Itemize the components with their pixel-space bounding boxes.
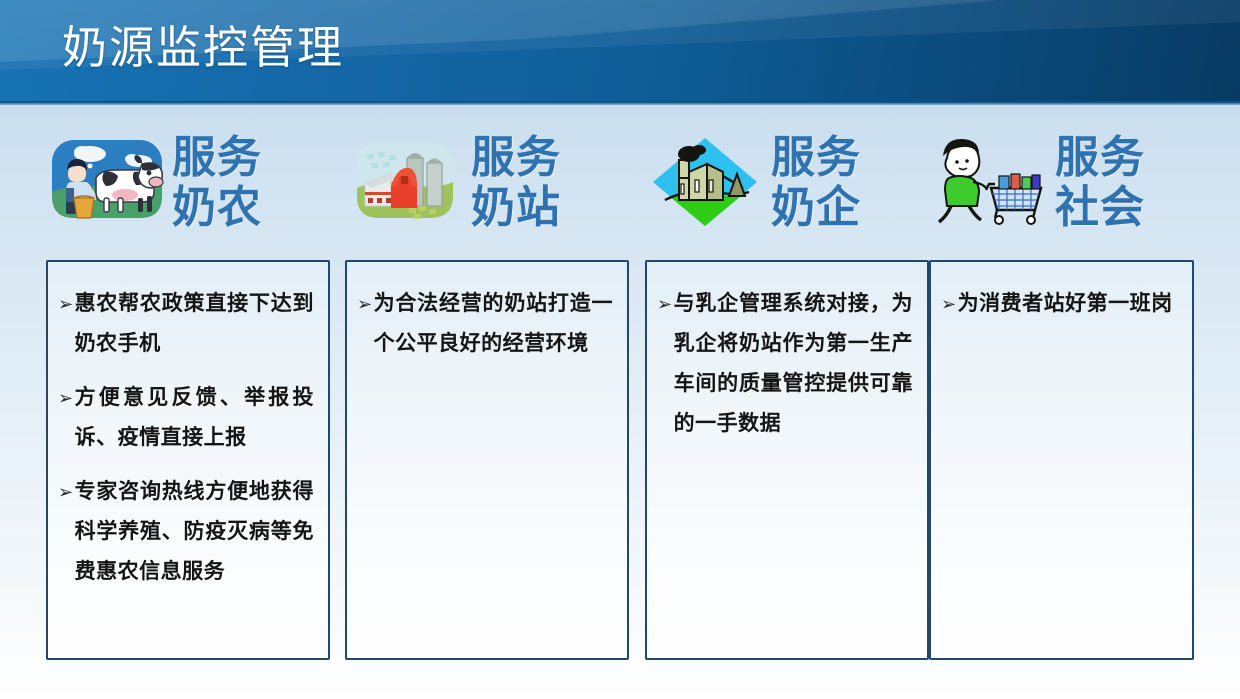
bullet-marker-icon: ➢ [941,284,957,324]
column-title-line1: 服务 [172,133,262,182]
column-content-box: ➢ 与乳企管理系统对接，为乳企将奶站作为第一生产车间的质量管控提供可靠的一手数据 [645,260,929,660]
bullet-item: ➢ 为合法经营的奶站打造一个公平良好的经营环境 [357,284,613,364]
bullet-text: 与乳企管理系统对接，为乳企将奶站作为第一生产车间的质量管控提供可靠的一手数据 [674,284,913,444]
column-title-line1: 服务 [471,133,561,182]
bullet-marker-icon: ➢ [58,378,74,418]
bullet-item: ➢ 与乳企管理系统对接，为乳企将奶站作为第一生产车间的质量管控提供可靠的一手数据 [657,284,913,444]
column-title-line2: 奶站 [471,183,633,233]
bullet-item: ➢ 为消费者站好第一班岗 [941,284,1178,324]
column-title: 服务 奶企 [771,133,933,233]
bullet-item: ➢ 惠农帮农政策直接下达到奶农手机 [58,284,314,364]
column-title-line1: 服务 [1055,133,1145,182]
column-content-box: ➢ 为合法经营的奶站打造一个公平良好的经营环境 [345,260,629,660]
column-title-line2: 奶企 [771,183,933,233]
column-title-line2: 社会 [1055,183,1217,233]
bullet-item: ➢ 方便意见反馈、举报投诉、疫情直接上报 [58,378,314,458]
bullet-text: 为消费者站好第一班岗 [958,284,1178,324]
shopper-cart-icon [929,130,1051,235]
column-content-box: ➢ 惠农帮农政策直接下达到奶农手机 ➢ 方便意见反馈、举报投诉、疫情直接上报 ➢… [46,260,330,660]
bullet-text: 为合法经营的奶站打造一个公平良好的经营环境 [374,284,613,364]
column-header: 服务 奶站 [345,125,633,240]
factory-diamond-icon [645,130,767,235]
bullet-marker-icon: ➢ [58,472,74,512]
column-title: 服务 奶站 [471,133,633,233]
bullet-text: 方便意见反馈、举报投诉、疫情直接上报 [75,378,314,458]
column-header: 服务 奶农 [46,125,334,240]
bullet-marker-icon: ➢ [357,284,373,324]
farmer-milking-cow-icon [46,130,168,235]
column-title: 服务 社会 [1055,133,1217,233]
red-barn-silo-icon [345,130,467,235]
bullet-marker-icon: ➢ [657,284,673,324]
bullet-marker-icon: ➢ [58,284,74,324]
page-title: 奶源监控管理 [62,17,344,79]
columns-container: 服务 奶农 ➢ 惠农帮农政策直接下达到奶农手机 ➢ 方便意见反馈、举报投诉、疫情… [0,103,1240,699]
column-content-box: ➢ 为消费者站好第一班岗 [929,260,1194,660]
column-header: 服务 奶企 [645,125,933,240]
bullet-item: ➢ 专家咨询热线方便地获得科学养殖、防疫灭病等免费惠农信息服务 [58,472,314,592]
slide: 奶源监控管理 [0,0,1240,699]
bullet-text: 专家咨询热线方便地获得科学养殖、防疫灭病等免费惠农信息服务 [75,472,314,592]
bullet-text: 惠农帮农政策直接下达到奶农手机 [75,284,314,364]
column-header: 服务 社会 [929,125,1217,240]
column-title-line2: 奶农 [172,183,334,233]
column-title-line1: 服务 [771,133,861,182]
column-title: 服务 奶农 [172,133,334,233]
